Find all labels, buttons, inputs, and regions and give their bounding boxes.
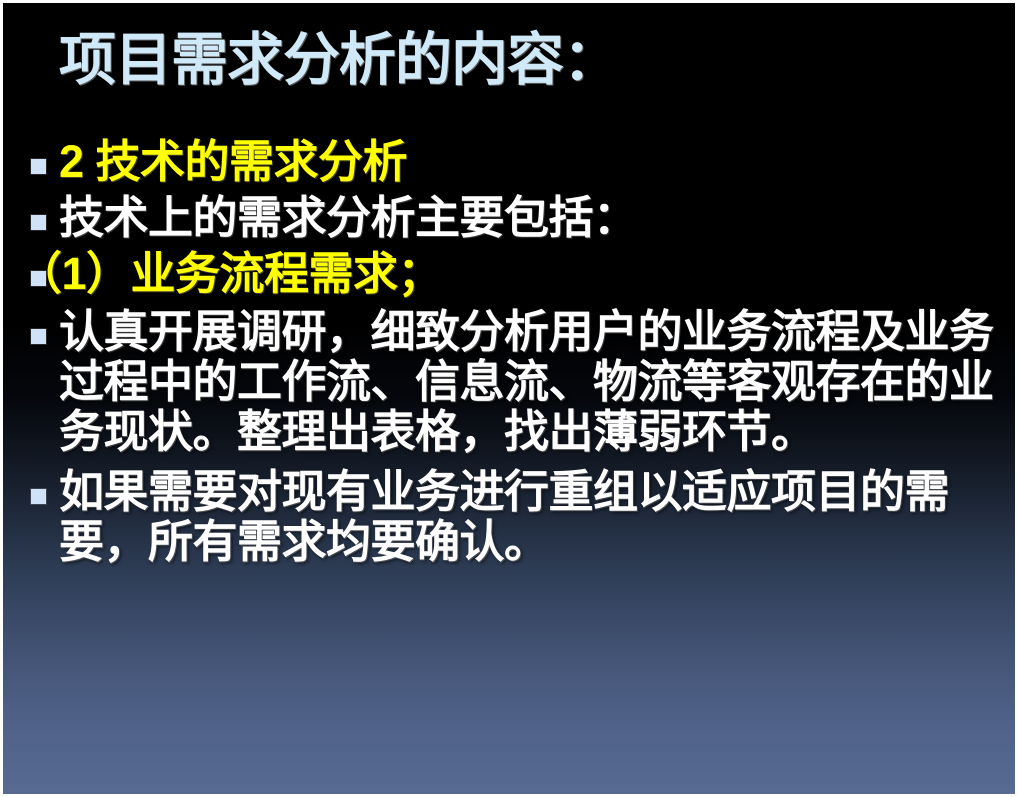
square-bullet-icon: [31, 489, 46, 504]
list-item: 2 技术的需求分析: [3, 137, 1015, 187]
presentation-slide: 项目需求分析的内容： 2 技术的需求分析 技术上的需求分析主要包括： （1）业务…: [0, 0, 1018, 797]
list-item: 如果需要对现有业务进行重组以适应项目的需要，所有需求均要确认。: [3, 467, 1015, 567]
list-item-label: （1）业务流程需求；: [17, 249, 1015, 299]
square-bullet-icon: [31, 271, 46, 286]
list-item-label: 技术上的需求分析主要包括：: [59, 193, 1015, 243]
list-item-label: 2 技术的需求分析: [59, 137, 1015, 187]
list-item: 认真开展调研，细致分析用户的业务流程及业务过程中的工作流、信息流、物流等客观存在…: [3, 307, 1015, 457]
list-item-label: 如果需要对现有业务进行重组以适应项目的需要，所有需求均要确认。: [59, 467, 1015, 567]
list-item-label: 认真开展调研，细致分析用户的业务流程及业务过程中的工作流、信息流、物流等客观存在…: [59, 307, 1015, 457]
square-bullet-icon: [31, 329, 46, 344]
slide-body-list: 2 技术的需求分析 技术上的需求分析主要包括： （1）业务流程需求； 认真开展调…: [3, 137, 1015, 569]
list-item: 技术上的需求分析主要包括：: [3, 193, 1015, 243]
square-bullet-icon: [31, 159, 46, 174]
page-title: 项目需求分析的内容：: [3, 31, 1015, 91]
list-item: （1）业务流程需求；: [3, 249, 1015, 299]
slide-title-block: 项目需求分析的内容：: [3, 31, 1015, 121]
square-bullet-icon: [31, 215, 46, 230]
